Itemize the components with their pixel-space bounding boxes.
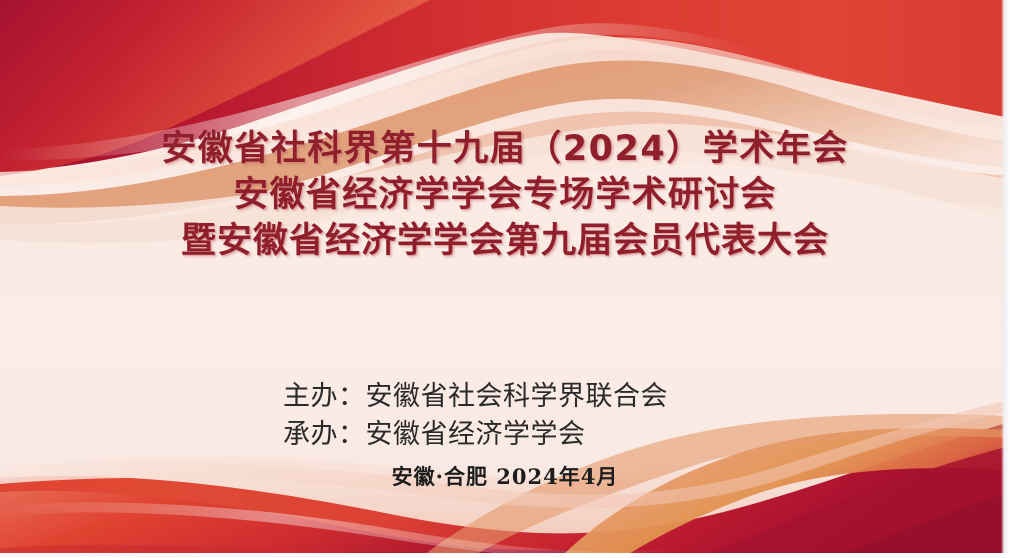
title-line-3: 暨安徽省经济学学会第九届会员代表大会: [0, 218, 1010, 264]
title-line-2: 安徽省经济学学会专场学术研讨会: [0, 172, 1010, 218]
title-line-1: 安徽省社科界第十九届（2024）学术年会: [0, 126, 1010, 172]
host-organization-line: 主办：安徽省社会科学界联合会: [283, 378, 668, 416]
slide-right-edge-frame: [1001, 0, 1010, 558]
organizer-block: 主办：安徽省社会科学界联合会 承办：安徽省经济学学会: [283, 378, 668, 454]
co-organizer-line: 承办：安徽省经济学学会: [283, 416, 668, 454]
slide-bottom-edge-frame: [0, 553, 1010, 558]
location-and-date: 安徽·合肥 2024年4月: [0, 461, 1010, 491]
conference-title: 安徽省社科界第十九届（2024）学术年会 安徽省经济学学会专场学术研讨会 暨安徽…: [0, 126, 1010, 264]
conference-backdrop-slide: 安徽省社科界第十九届（2024）学术年会 安徽省经济学学会专场学术研讨会 暨安徽…: [0, 0, 1010, 558]
slide-content: 安徽省社科界第十九届（2024）学术年会 安徽省经济学学会专场学术研讨会 暨安徽…: [0, 0, 1010, 558]
